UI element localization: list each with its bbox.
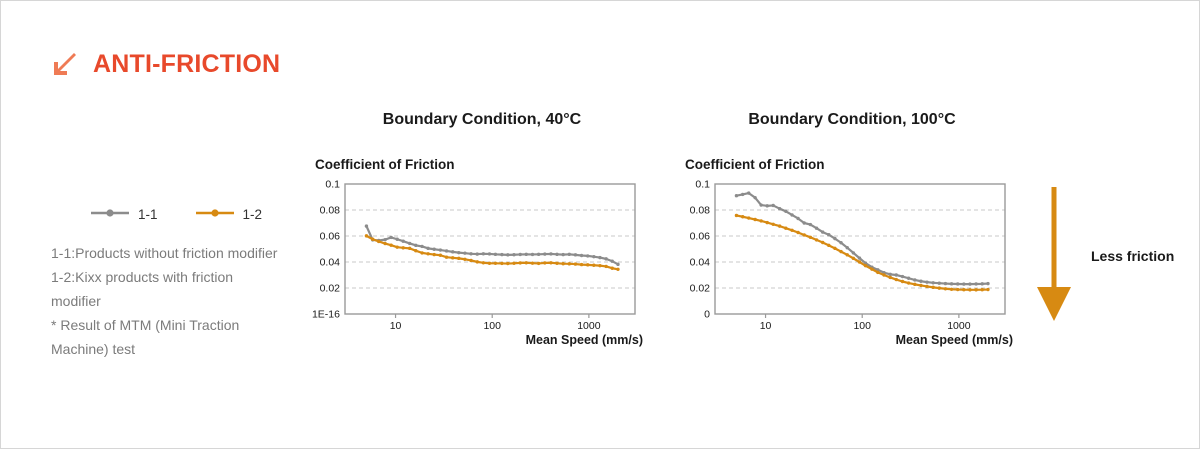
svg-text:100: 100 bbox=[483, 320, 501, 332]
line-dot-marker-icon bbox=[89, 206, 131, 224]
svg-text:1E-16: 1E-16 bbox=[312, 308, 340, 320]
svg-text:0: 0 bbox=[704, 308, 710, 320]
legend: 1-1 1-2 bbox=[89, 206, 262, 224]
chart-100c: Boundary Condition, 100°C Coefficient of… bbox=[677, 106, 1027, 346]
svg-text:0.1: 0.1 bbox=[695, 178, 710, 190]
down-arrow-icon bbox=[1031, 183, 1077, 328]
less-friction-annotation: Less friction bbox=[1031, 183, 1174, 328]
chart-title-40c: Boundary Condition, 40°C bbox=[307, 106, 657, 128]
svg-text:0.02: 0.02 bbox=[690, 282, 711, 294]
legend-item-1-1: 1-1 bbox=[89, 206, 158, 224]
chart-plot-100c: 00.020.040.060.080.1101001000 bbox=[677, 176, 1017, 336]
chart-title-100c: Boundary Condition, 100°C bbox=[677, 106, 1027, 128]
svg-text:100: 100 bbox=[853, 320, 871, 332]
diagonal-down-left-arrow-icon bbox=[49, 49, 79, 79]
caption-line-2: 1-2:Kixx products with friction modifier bbox=[51, 265, 283, 313]
svg-text:10: 10 bbox=[390, 320, 402, 332]
svg-text:10: 10 bbox=[760, 320, 772, 332]
chart-plot-40c: 1E-160.020.040.060.080.1101001000 bbox=[307, 176, 647, 336]
less-friction-label: Less friction bbox=[1091, 249, 1174, 263]
page-title: ANTI-FRICTION bbox=[93, 52, 280, 77]
legend-label-1-1: 1-1 bbox=[138, 208, 158, 222]
svg-text:0.02: 0.02 bbox=[320, 282, 341, 294]
svg-text:0.04: 0.04 bbox=[690, 256, 711, 268]
page-header: ANTI-FRICTION bbox=[49, 49, 280, 79]
caption-block: 1-1:Products without friction modifier 1… bbox=[51, 241, 283, 361]
svg-text:0.06: 0.06 bbox=[320, 230, 341, 242]
svg-text:0.06: 0.06 bbox=[690, 230, 711, 242]
legend-item-1-2: 1-2 bbox=[194, 206, 263, 224]
svg-text:0.04: 0.04 bbox=[320, 256, 341, 268]
chart-40c: Boundary Condition, 40°C Coefficient of … bbox=[307, 106, 657, 346]
chart-ylabel-40c: Coefficient of Friction bbox=[315, 158, 657, 172]
svg-text:0.1: 0.1 bbox=[325, 178, 340, 190]
chart-xlabel-100c: Mean Speed (mm/s) bbox=[677, 334, 1027, 347]
svg-text:1000: 1000 bbox=[577, 320, 601, 332]
caption-line-1: 1-1:Products without friction modifier bbox=[51, 241, 283, 265]
svg-text:0.08: 0.08 bbox=[320, 204, 341, 216]
chart-xlabel-40c: Mean Speed (mm/s) bbox=[307, 334, 657, 347]
chart-ylabel-100c: Coefficient of Friction bbox=[685, 158, 1027, 172]
svg-text:0.08: 0.08 bbox=[690, 204, 711, 216]
legend-label-1-2: 1-2 bbox=[243, 208, 263, 222]
svg-text:1000: 1000 bbox=[947, 320, 971, 332]
line-dot-marker-icon bbox=[194, 206, 236, 224]
caption-line-3: * Result of MTM (Mini Traction Machine) … bbox=[51, 313, 283, 361]
slide-root: ANTI-FRICTION 1-1 1-2 1-1:Products w bbox=[0, 0, 1200, 449]
